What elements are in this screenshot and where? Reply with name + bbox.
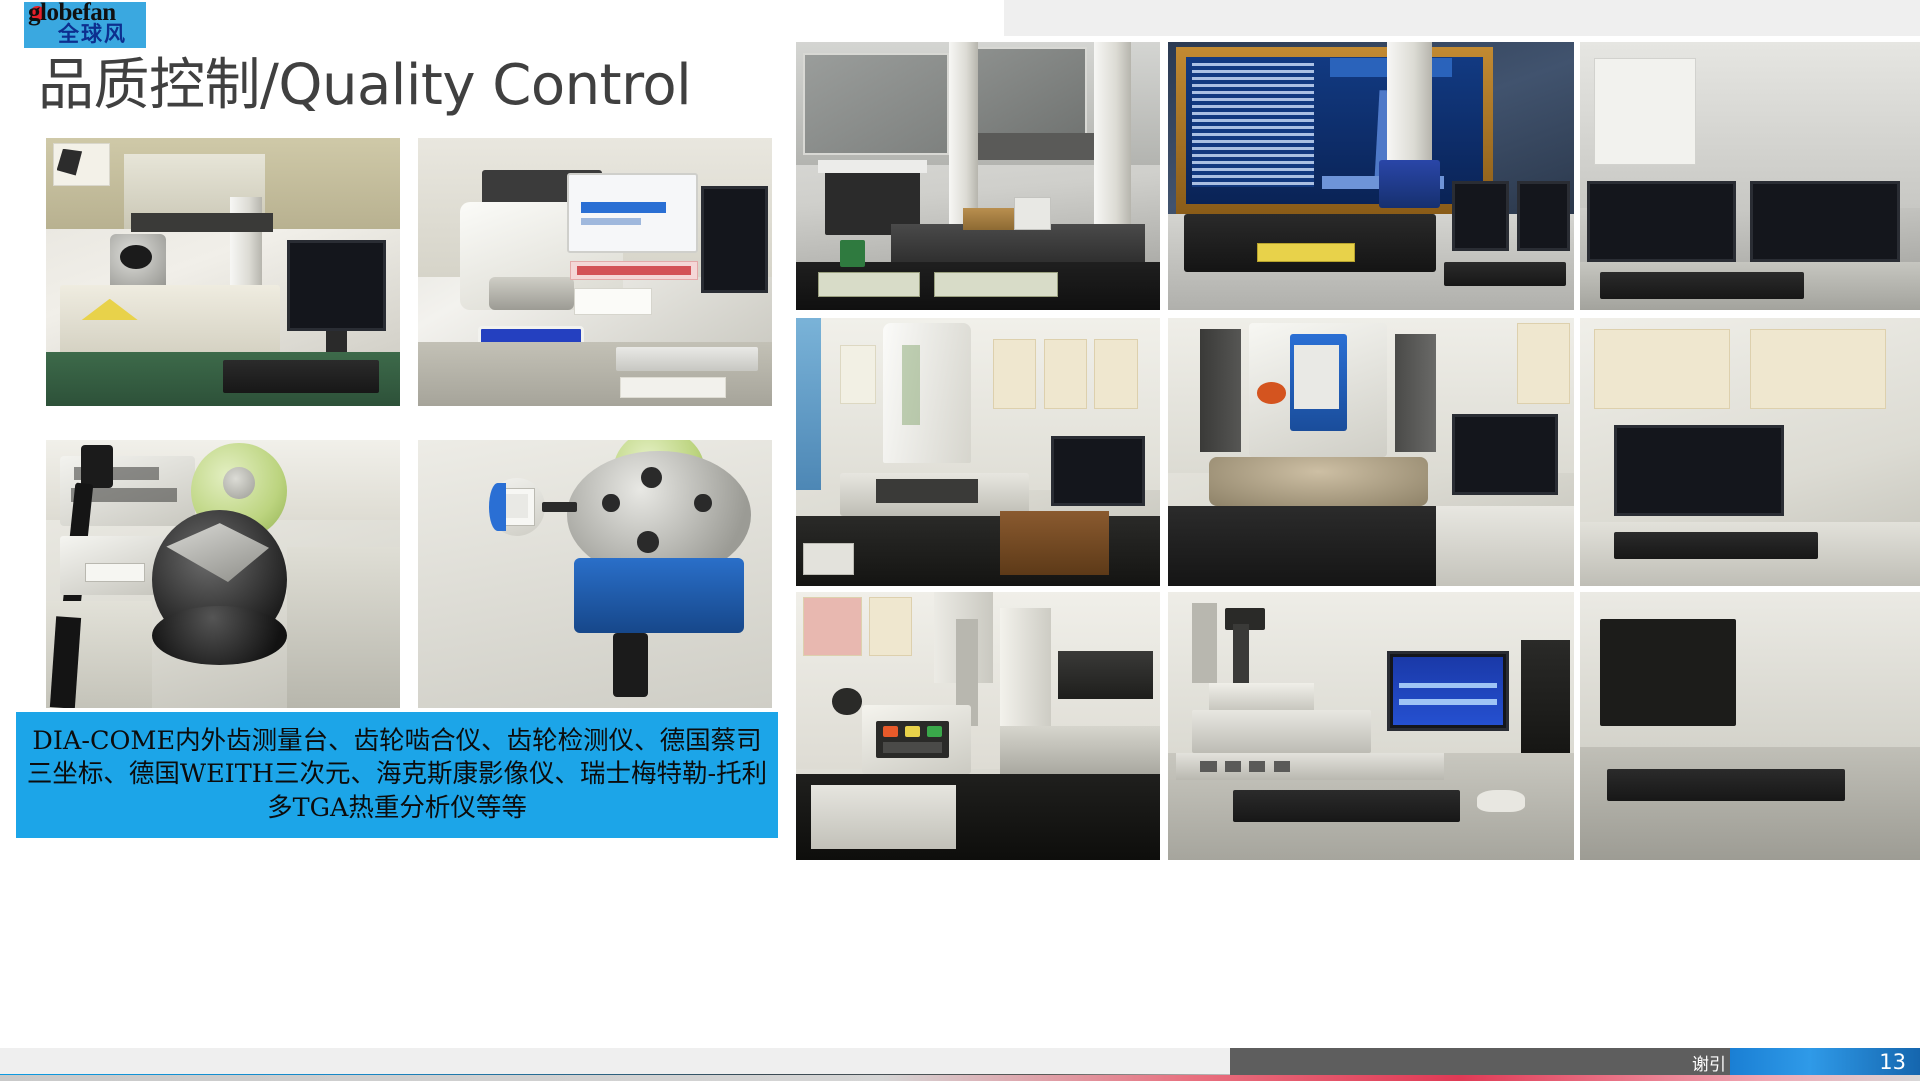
page-number: 13 bbox=[1879, 1050, 1906, 1074]
photo-dew-gear-machine bbox=[46, 440, 400, 708]
photo-dial-indicator-fixture bbox=[418, 440, 772, 708]
photo-optiv-lite-vision-machine bbox=[796, 318, 1160, 586]
photo-zhaowei-video-measuring-right bbox=[1580, 42, 1920, 310]
photo-roundness-tester bbox=[46, 138, 400, 406]
photo-flash-cmm-scanner-right bbox=[1580, 318, 1920, 586]
photo-cnc-gear-inspection bbox=[796, 592, 1160, 860]
photo-zeiss-cmm bbox=[796, 42, 1160, 310]
footer-accent-bar bbox=[0, 1075, 1920, 1081]
caption-box: DIA-COME内外齿测量台、齿轮啮合仪、齿轮检测仪、德国蔡司三坐标、德国WEI… bbox=[16, 712, 778, 838]
photo-zhaowei-video-measuring bbox=[1168, 42, 1574, 310]
photo-thermal-analyzer bbox=[418, 138, 772, 406]
caption-text: DIA-COME内外齿测量台、齿轮啮合仪、齿轮检测仪、德国蔡司三坐标、德国WEI… bbox=[24, 725, 770, 824]
logo-chinese-text: 全球风 bbox=[58, 22, 127, 46]
photo-gear-measuring-instrument-right bbox=[1580, 592, 1920, 860]
footer-page-box: 13 bbox=[1730, 1048, 1920, 1076]
photo-gear-measuring-instrument-pc bbox=[1168, 592, 1574, 860]
photo-flash-cmm-scanner bbox=[1168, 318, 1574, 586]
footer-note: 谢引 bbox=[1692, 1048, 1726, 1076]
top-accent-band bbox=[1004, 0, 1920, 36]
page-title: 品质控制/Quality Control bbox=[38, 40, 691, 121]
